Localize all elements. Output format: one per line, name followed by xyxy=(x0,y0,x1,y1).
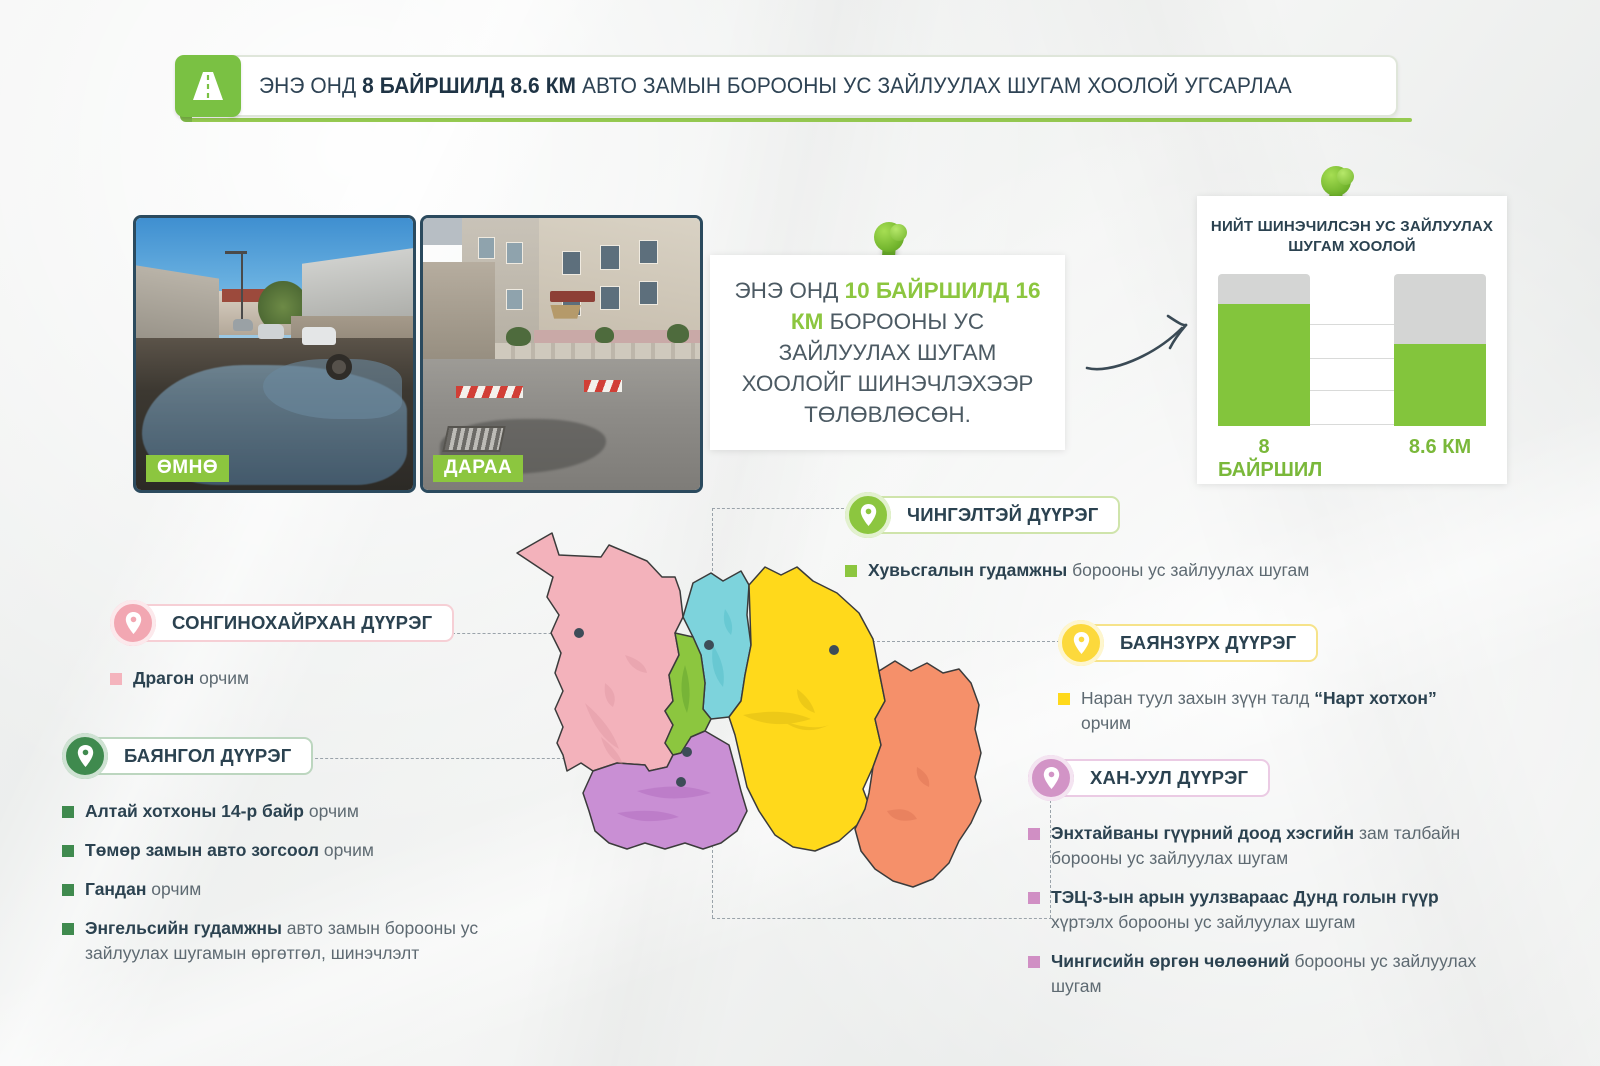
district-name-bayangol: БАЯНГОЛ ДҮҮРЭГ xyxy=(94,737,313,775)
bar-fill-0 xyxy=(1218,304,1310,426)
map-dot-songinokhairkhan xyxy=(574,628,584,638)
curved-arrow-icon xyxy=(1082,308,1200,380)
district-item-text: Төмөр замын авто зогсоол орчим xyxy=(85,838,374,863)
map-pin-icon xyxy=(1028,755,1074,801)
photo-before: ӨМНӨ xyxy=(133,215,416,493)
chart-category-labels: 8 БАЙРШИЛ 8.6 КМ xyxy=(1218,436,1486,482)
header-title-bar: ЭНЭ ОНД 8 БАЙРШИЛД 8.6 КМ АВТО ЗАМЫН БОР… xyxy=(229,55,1398,117)
bullet-square-icon xyxy=(845,565,857,577)
bullet-square-icon xyxy=(62,884,74,896)
chart-gridlines xyxy=(1310,274,1394,426)
district-items-songinokhairkhan: Драгон орчим xyxy=(110,666,490,691)
district-items-bayanzurkh: Наран туул захын зүүн талд “Нарт хотхон”… xyxy=(1058,686,1478,736)
district-item: Чингисийн өргөн чөлөөний борооны ус зайл… xyxy=(1028,949,1498,999)
map-pin-icon xyxy=(110,600,156,646)
photo-after-caption: ДАРАА xyxy=(433,455,523,482)
district-card-songinokhairkhan[interactable]: СОНГИНОХАЙРХАН ДҮҮРЭГ Драгон орчим xyxy=(110,600,490,705)
map-dot-bayanzurkh xyxy=(829,645,839,655)
map-pin-icon xyxy=(62,733,108,779)
bullet-square-icon xyxy=(1028,892,1040,904)
bullet-square-icon xyxy=(62,845,74,857)
district-item: Наран туул захын зүүн талд “Нарт хотхон”… xyxy=(1058,686,1478,736)
bar-category-0 xyxy=(1218,274,1310,426)
chart-plot-area xyxy=(1218,274,1486,426)
district-name-khan-uul: ХАН-УУЛ ДҮҮРЭГ xyxy=(1060,759,1270,797)
photo-after: ДАРАА xyxy=(420,215,703,493)
district-item-text: Драгон орчим xyxy=(133,666,249,691)
district-items-chingeltei: Хувьсгалын гудамжны борооны ус зайлуулах… xyxy=(845,558,1525,583)
district-item-text: Энхтайваны гүүрний доод хэсгийн зам талб… xyxy=(1051,821,1498,871)
district-item: Энгельсийн гудамжны авто замын борооны у… xyxy=(62,916,532,966)
header-underline xyxy=(188,118,1412,122)
district-item: Төмөр замын авто зогсоол орчим xyxy=(62,838,532,863)
header-banner: ЭНЭ ОНД 8 БАЙРШИЛД 8.6 КМ АВТО ЗАМЫН БОР… xyxy=(175,55,1398,117)
district-item: Гандан орчим xyxy=(62,877,532,902)
map-pin-icon xyxy=(1058,620,1104,666)
district-item-text: Гандан орчим xyxy=(85,877,201,902)
chart-label-0: 8 БАЙРШИЛ xyxy=(1218,436,1310,482)
district-item: Хувьсгалын гудамжны борооны ус зайлуулах… xyxy=(845,558,1525,583)
district-card-bayangol[interactable]: БАЯНГОЛ ДҮҮРЭГ Алтай хотхоны 14-р байр о… xyxy=(62,733,532,980)
district-item: Драгон орчим xyxy=(110,666,490,691)
district-card-chingeltei[interactable]: ЧИНГЭЛТЭЙ ДҮҮРЭГ Хувьсгалын гудамжны бор… xyxy=(845,492,1525,597)
bar-category-1 xyxy=(1394,274,1486,426)
page-title: ЭНЭ ОНД 8 БАЙРШИЛД 8.6 КМ АВТО ЗАМЫН БОР… xyxy=(259,73,1292,99)
district-item: Алтай хотхоны 14-р байр орчим xyxy=(62,799,532,824)
district-item-text: ТЭЦ-3-ын арын уулзвараас Дунд голын гүүр… xyxy=(1051,885,1498,935)
district-item-text: Энгельсийн гудамжны авто замын борооны у… xyxy=(85,916,532,966)
district-name-chingeltei: ЧИНГЭЛТЭЙ ДҮҮРЭГ xyxy=(877,496,1120,534)
bullet-square-icon xyxy=(1028,956,1040,968)
chart-label-1: 8.6 КМ xyxy=(1394,436,1486,482)
district-item-text: Алтай хотхоны 14-р байр орчим xyxy=(85,799,359,824)
map-region-songinokhairkhan xyxy=(517,533,683,771)
bar-fill-1 xyxy=(1394,344,1486,426)
bullet-square-icon xyxy=(62,923,74,935)
district-item: ТЭЦ-3-ын арын уулзвараас Дунд голын гүүр… xyxy=(1028,885,1498,935)
district-card-bayanzurkh[interactable]: БАЯНЗҮРХ ДҮҮРЭГ Наран туул захын зүүн та… xyxy=(1058,620,1478,750)
district-name-bayanzurkh: БАЯНЗҮРХ ДҮҮРЭГ xyxy=(1090,624,1318,662)
district-items-bayangol: Алтай хотхоны 14-р байр орчимТөмөр замын… xyxy=(62,799,532,966)
bullet-square-icon xyxy=(62,806,74,818)
district-item: Энхтайваны гүүрний доод хэсгийн зам талб… xyxy=(1028,821,1498,871)
map-pin-icon xyxy=(845,492,891,538)
district-item-text: Хувьсгалын гудамжны борооны ус зайлуулах… xyxy=(868,558,1309,583)
bullet-square-icon xyxy=(1028,828,1040,840)
photo-before-caption: ӨМНӨ xyxy=(146,455,229,482)
bullet-square-icon xyxy=(110,673,122,685)
road-icon xyxy=(175,55,241,117)
plan-callout-box: ЭНЭ ОНД 10 БАЙРШИЛД 16 КМ БОРООНЫ УС ЗАЙ… xyxy=(710,255,1065,450)
bullet-square-icon xyxy=(1058,693,1070,705)
map-dot-chingeltei xyxy=(704,640,714,650)
district-items-khan-uul: Энхтайваны гүүрний доод хэсгийн зам талб… xyxy=(1028,821,1498,999)
chart-title: НИЙТ ШИНЭЧИЛСЭН УС ЗАЙЛУУЛАХ ШУГАМ ХООЛО… xyxy=(1197,217,1507,257)
district-card-khan-uul[interactable]: ХАН-УУЛ ДҮҮРЭГ Энхтайваны гүүрний доод х… xyxy=(1028,755,1498,1013)
map-dot-sukhbaatar xyxy=(682,747,692,757)
district-item-text: Чингисийн өргөн чөлөөний борооны ус зайл… xyxy=(1051,949,1498,999)
summary-chart-card: НИЙТ ШИНЭЧИЛСЭН УС ЗАЙЛУУЛАХ ШУГАМ ХООЛО… xyxy=(1197,196,1507,484)
district-name-songinokhairkhan: СОНГИНОХАЙРХАН ДҮҮРЭГ xyxy=(142,604,454,642)
map-dot-bayangol xyxy=(676,777,686,787)
plan-callout-text: ЭНЭ ОНД 10 БАЙРШИЛД 16 КМ БОРООНЫ УС ЗАЙ… xyxy=(710,275,1065,430)
district-item-text: Наран туул захын зүүн талд “Нарт хотхон”… xyxy=(1081,686,1478,736)
